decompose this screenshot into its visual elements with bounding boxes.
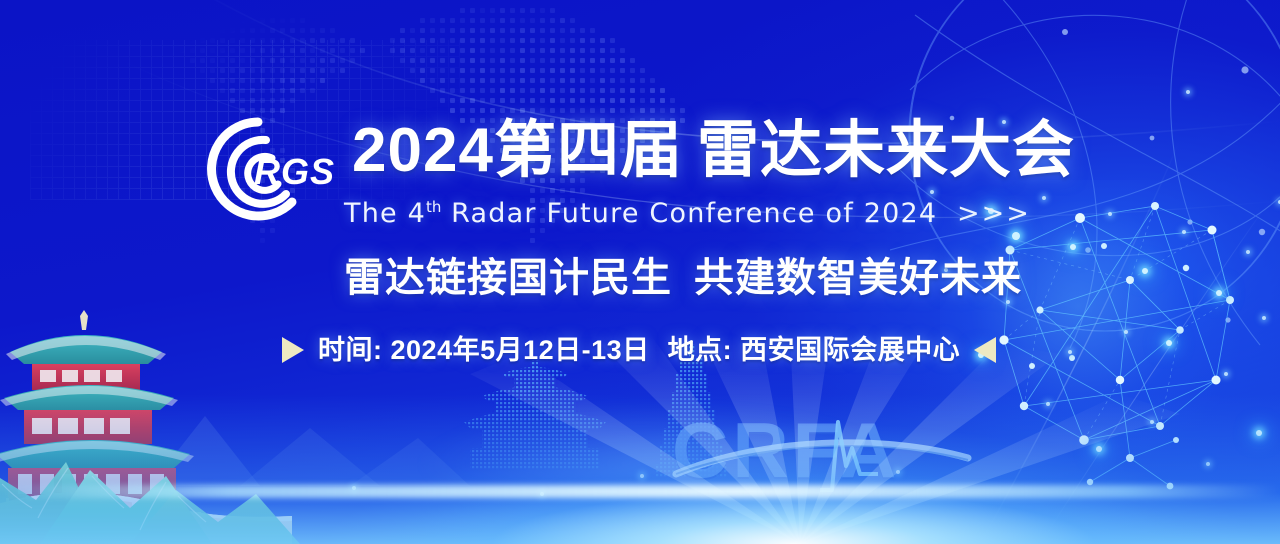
tagline-left: 雷达链接国计民生 [344,256,672,300]
subtitle-english: The 4th Radar Future Conference of 2024 … [344,190,1031,231]
chevron-right-icon: >>> [957,198,1031,229]
play-triangle-left-icon [974,337,996,363]
event-info-line: 时间: 2024年5月12日-13日地点: 西安国际会展中心 [282,332,996,368]
conference-banner: CRFA [0,0,1280,544]
place-value: 西安国际会展中心 [740,335,960,365]
subtitle-ordinal: th [426,198,441,216]
rgs-logo-text: RGS [254,151,335,192]
page-title: 2024第四届雷达未来大会 [352,116,1075,186]
tagline-right: 共建数智美好未来 [694,256,1022,300]
rgs-radar-logo[interactable]: RGS [196,114,342,224]
tagline: 雷达链接国计民生共建数智美好未来 [344,253,1022,303]
event-info-text: 时间: 2024年5月12日-13日地点: 西安国际会展中心 [318,332,960,368]
place-label: 地点: [668,335,733,365]
title-name: 雷达未来大会 [697,116,1075,185]
title-edition: 第四届 [494,116,683,185]
play-triangle-right-icon [282,337,304,363]
banner-content: RGS 2024第四届雷达未来大会 The 4th Radar Future C… [0,0,1280,544]
title-year: 2024 [352,116,494,185]
time-value: 2024年5月12日-13日 [391,335,650,365]
subtitle-prefix: The 4 [344,198,426,229]
subtitle-rest: Radar Future Conference of 2024 [451,198,937,229]
time-label: 时间: [318,335,383,365]
